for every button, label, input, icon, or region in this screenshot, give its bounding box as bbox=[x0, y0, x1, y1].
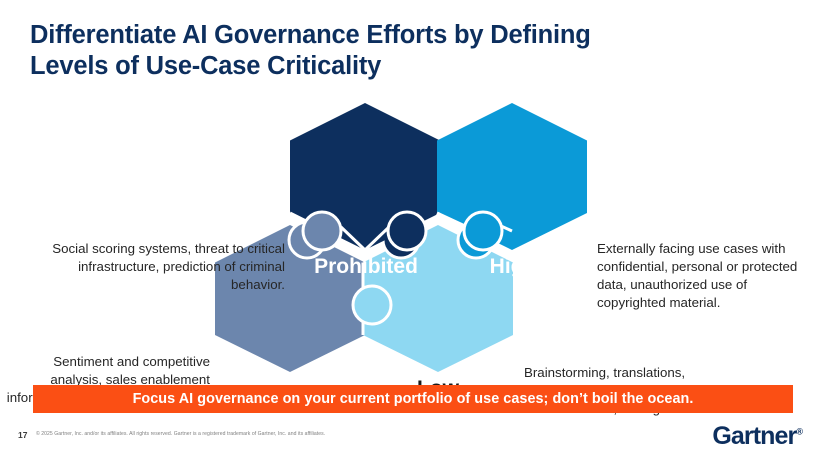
page-number: 17 bbox=[18, 430, 27, 440]
gartner-logo-text: Gartner bbox=[712, 422, 796, 450]
banner-text: Focus AI governance on your current port… bbox=[133, 391, 694, 407]
hex-piece-high[interactable] bbox=[437, 103, 587, 250]
registered-mark-icon: ® bbox=[796, 427, 803, 437]
knob-high-into-low bbox=[464, 212, 502, 250]
page-title: Differentiate AI Governance Efforts by D… bbox=[30, 20, 790, 82]
knob-low-into-medium bbox=[353, 286, 391, 324]
gartner-logo: Gartner® bbox=[712, 422, 803, 451]
title-line-2: Levels of Use-Case Criticality bbox=[30, 51, 790, 82]
slide-canvas: Differentiate AI Governance Efforts by D… bbox=[0, 0, 825, 450]
puzzle-hexagon-graphic bbox=[195, 92, 625, 384]
knob-prohibited-into-low bbox=[388, 212, 426, 250]
caption-prohibited: Social scoring systems, threat to critic… bbox=[45, 240, 285, 294]
caption-high: Externally facing use cases with confide… bbox=[597, 240, 812, 312]
copyright-notice: © 2025 Gartner, Inc. and/or its affiliat… bbox=[36, 431, 325, 437]
key-takeaway-banner: Focus AI governance on your current port… bbox=[33, 385, 793, 413]
title-line-1: Differentiate AI Governance Efforts by D… bbox=[30, 21, 591, 49]
criticality-puzzle-diagram: Prohibited High Medium Low Social scorin… bbox=[0, 92, 825, 384]
slide-footer: 17 © 2025 Gartner, Inc. and/or its affil… bbox=[0, 424, 825, 450]
knob-medium-into-prohibited bbox=[303, 212, 341, 250]
